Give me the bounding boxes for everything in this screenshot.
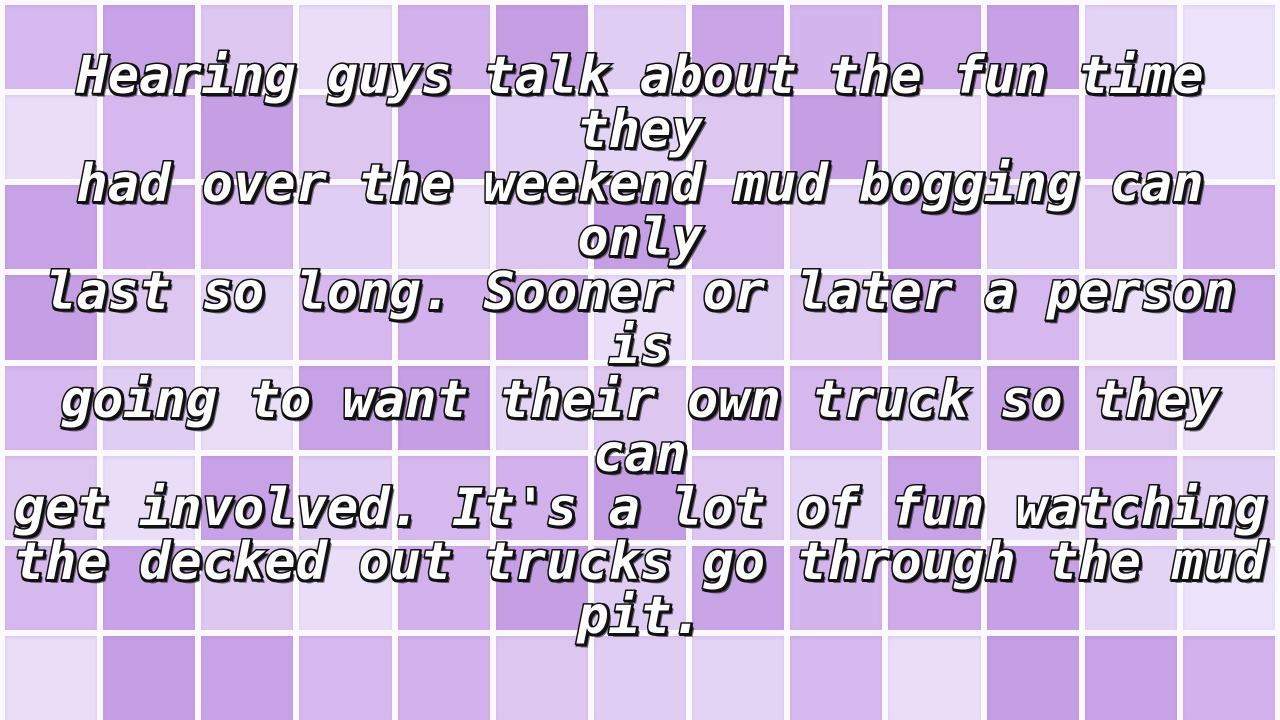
mosaic-tile <box>398 5 490 89</box>
mosaic-tile <box>299 95 391 179</box>
mosaic-tile <box>1183 546 1275 630</box>
mosaic-tile <box>103 5 195 89</box>
mosaic-tile <box>888 456 980 540</box>
mosaic-tile <box>790 185 882 269</box>
mosaic-tile <box>594 5 686 89</box>
mosaic-tile <box>201 185 293 269</box>
mosaic-tile <box>1183 185 1275 269</box>
mosaic-tile <box>103 456 195 540</box>
mosaic-tile <box>594 95 686 179</box>
mosaic-tile <box>5 185 97 269</box>
mosaic-tile <box>496 95 588 179</box>
mosaic-tile <box>299 275 391 359</box>
mosaic-tile <box>398 636 490 720</box>
tile-mosaic-background <box>0 0 1280 720</box>
mosaic-tile <box>103 636 195 720</box>
mosaic-tile <box>987 366 1079 450</box>
mosaic-tile <box>103 366 195 450</box>
mosaic-tile <box>299 366 391 450</box>
mosaic-tile <box>1085 95 1177 179</box>
mosaic-tile <box>496 546 588 630</box>
mosaic-tile <box>888 546 980 630</box>
mosaic-tile <box>299 456 391 540</box>
mosaic-tile <box>201 546 293 630</box>
mosaic-tile <box>790 275 882 359</box>
mosaic-tile <box>201 456 293 540</box>
mosaic-tile <box>496 5 588 89</box>
mosaic-tile <box>790 95 882 179</box>
mosaic-tile <box>398 185 490 269</box>
mosaic-tile <box>594 636 686 720</box>
mosaic-tile <box>692 366 784 450</box>
mosaic-tile <box>790 456 882 540</box>
mosaic-tile <box>496 275 588 359</box>
quote-image-canvas: Hearing guys talk about the fun time the… <box>0 0 1280 720</box>
mosaic-tile <box>987 456 1079 540</box>
mosaic-tile <box>5 95 97 179</box>
mosaic-tile <box>1183 275 1275 359</box>
mosaic-tile <box>987 185 1079 269</box>
mosaic-tile <box>398 546 490 630</box>
mosaic-tile <box>103 275 195 359</box>
mosaic-tile <box>888 95 980 179</box>
mosaic-tile <box>594 546 686 630</box>
mosaic-tile <box>987 275 1079 359</box>
mosaic-tile <box>692 456 784 540</box>
mosaic-tile <box>1085 636 1177 720</box>
mosaic-tile <box>398 456 490 540</box>
mosaic-tile <box>594 185 686 269</box>
mosaic-tile <box>398 95 490 179</box>
mosaic-tile <box>496 185 588 269</box>
mosaic-tile <box>496 456 588 540</box>
mosaic-tile <box>1183 456 1275 540</box>
mosaic-tile <box>692 95 784 179</box>
mosaic-tile <box>790 366 882 450</box>
mosaic-tile <box>5 275 97 359</box>
mosaic-tile <box>103 546 195 630</box>
mosaic-tile <box>299 185 391 269</box>
mosaic-tile <box>5 636 97 720</box>
mosaic-tile <box>5 366 97 450</box>
mosaic-tile <box>987 546 1079 630</box>
mosaic-tile <box>299 546 391 630</box>
mosaic-tile <box>888 185 980 269</box>
mosaic-tile <box>790 636 882 720</box>
mosaic-tile <box>496 366 588 450</box>
mosaic-tile <box>5 5 97 89</box>
mosaic-tile <box>1183 5 1275 89</box>
mosaic-tile <box>987 95 1079 179</box>
mosaic-tile <box>1085 456 1177 540</box>
mosaic-tile <box>1085 5 1177 89</box>
mosaic-tile <box>496 636 588 720</box>
mosaic-tile <box>888 275 980 359</box>
mosaic-tile <box>201 636 293 720</box>
mosaic-tile <box>398 275 490 359</box>
mosaic-tile <box>1085 275 1177 359</box>
mosaic-tile <box>5 546 97 630</box>
mosaic-tile <box>1183 636 1275 720</box>
mosaic-tile <box>299 5 391 89</box>
mosaic-tile <box>103 95 195 179</box>
mosaic-tile <box>692 5 784 89</box>
mosaic-tile <box>201 5 293 89</box>
mosaic-tile <box>790 546 882 630</box>
mosaic-tile <box>1085 366 1177 450</box>
mosaic-tile <box>692 546 784 630</box>
mosaic-tile <box>594 275 686 359</box>
mosaic-tile <box>888 5 980 89</box>
mosaic-tile <box>201 275 293 359</box>
mosaic-tile <box>888 636 980 720</box>
mosaic-tile <box>299 636 391 720</box>
mosaic-tile <box>987 5 1079 89</box>
mosaic-tile <box>5 456 97 540</box>
mosaic-tile <box>1085 185 1177 269</box>
mosaic-tile <box>888 366 980 450</box>
mosaic-tile <box>987 636 1079 720</box>
mosaic-tile <box>594 456 686 540</box>
mosaic-tile <box>692 636 784 720</box>
mosaic-tile <box>1183 366 1275 450</box>
mosaic-tile <box>692 275 784 359</box>
mosaic-tile <box>1183 95 1275 179</box>
mosaic-tile <box>790 5 882 89</box>
mosaic-tile <box>1085 546 1177 630</box>
mosaic-tile <box>594 366 686 450</box>
mosaic-tile <box>398 366 490 450</box>
mosaic-tile <box>201 95 293 179</box>
mosaic-tile <box>201 366 293 450</box>
mosaic-tile <box>692 185 784 269</box>
mosaic-tile <box>103 185 195 269</box>
